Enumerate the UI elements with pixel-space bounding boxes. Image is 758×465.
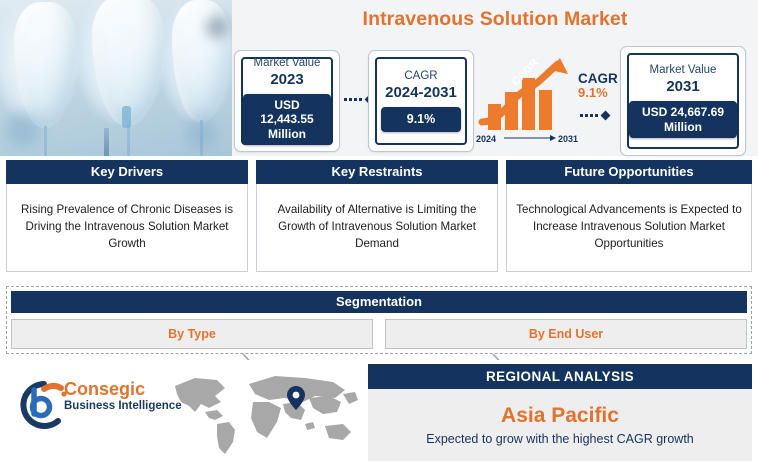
cagr-period-label: CAGR [404,70,437,83]
market-value-2031-card: Market Value 2031 USD 24,667.69 Million [620,46,746,156]
cagr-badge: CAGR 9.1% [578,72,618,101]
consegic-logo-text: Consegic Business Intelligence [64,380,182,414]
regional-analysis-region: Asia Pacific [501,404,619,427]
regional-analysis-heading: REGIONAL ANALYSIS [368,364,752,389]
panel-key-drivers-heading: Key Drivers [6,160,248,184]
cagr-badge-label: CAGR [578,72,618,86]
connector-dotted-2 [580,112,609,119]
page-title: Intravenous Solution Market [232,8,758,31]
panel-key-restraints-heading: Key Restraints [256,160,498,184]
cagr-badge-value: 9.1% [578,86,618,101]
stats-row: Market Value 2023 USD 12,443.55 Million … [232,44,758,156]
market-value-2023-card: Market Value 2023 USD 12,443.55 Million [234,50,340,152]
market-value-2023-label: Market Value [254,57,321,70]
brand-name: Consegic [64,380,182,398]
market-value-2023-value: USD 12,443.55 Million [243,94,331,145]
panel-key-drivers: Key Drivers Rising Prevalence of Chronic… [6,160,248,272]
panel-key-restraints-text: Availability of Alternative is Limiting … [266,202,488,252]
cagr-period-value: 9.1% [381,107,462,132]
cagr-chart-axis-end: 2031 [558,134,578,144]
panel-future-opportunities-text: Technological Advancements is Expected t… [516,202,742,252]
world-map [165,368,360,460]
top-band: Intravenous Solution Market Market Value… [0,0,758,156]
market-value-2023-year: 2023 [270,71,303,89]
iv-solution-bags-photo [0,0,232,156]
bottom-band: Consegic Business Intelligence [0,360,758,465]
cagr-period-card: CAGR 2024-2031 9.1% [368,50,474,152]
panel-future-opportunities: Future Opportunities Technological Advan… [506,160,752,272]
cagr-period-years: 2024-2031 [385,84,457,102]
segmentation-item-by-type[interactable]: By Type [11,319,373,349]
cagr-growth-chart: CAGR 2024 2031 [476,52,586,144]
brand-tagline: Business Intelligence [64,400,182,414]
market-value-2031-value: USD 24,667.69 Million [629,101,737,138]
segmentation-heading: Segmentation [11,291,747,313]
panel-future-opportunities-heading: Future Opportunities [506,160,752,184]
segmentation-section: Segmentation By Type By End User [6,286,752,354]
market-value-2031-year: 2031 [666,78,699,96]
infographic-page: Intravenous Solution Market Market Value… [0,0,758,465]
cagr-chart-axis-start: 2024 [476,134,496,144]
panel-key-drivers-text: Rising Prevalence of Chronic Diseases is… [16,202,238,252]
key-panels: Key Drivers Rising Prevalence of Chronic… [0,160,758,282]
segmentation-item-by-end-user[interactable]: By End User [385,319,747,349]
drip-chamber-icon [122,106,131,128]
panel-key-restraints: Key Restraints Availability of Alternati… [256,160,498,272]
market-value-2031-label: Market Value [650,64,717,77]
regional-analysis-note: Expected to grow with the highest CAGR g… [426,432,694,446]
regional-analysis-section: REGIONAL ANALYSIS Asia Pacific Expected … [368,364,752,461]
